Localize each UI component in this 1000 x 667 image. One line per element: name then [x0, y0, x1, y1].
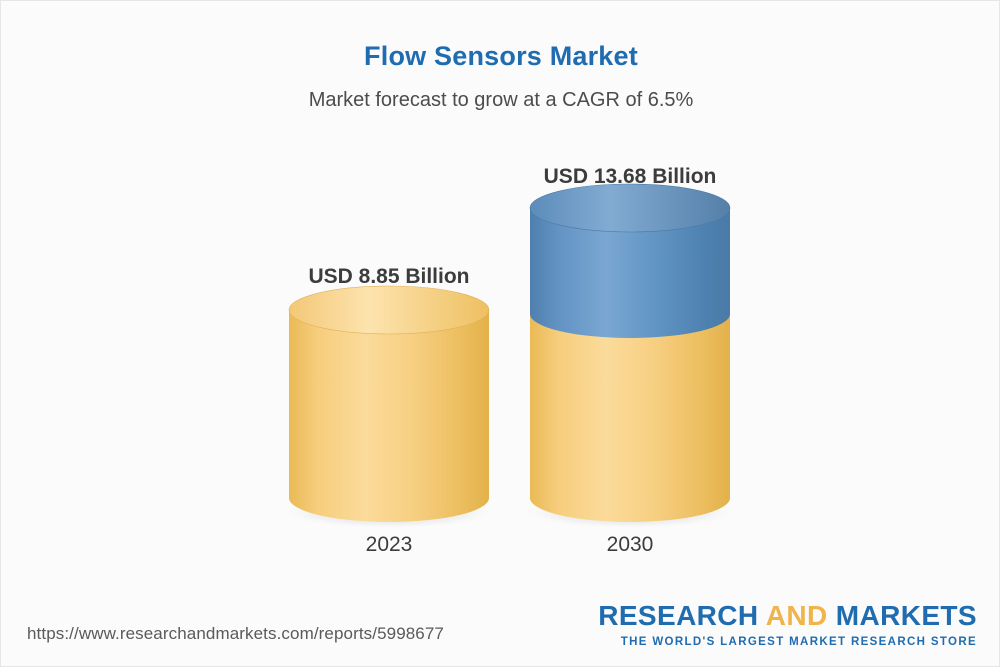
source-url[interactable]: https://www.researchandmarkets.com/repor… — [27, 624, 444, 644]
logo-markets-text: MARKETS — [828, 600, 977, 631]
bar-2030-top — [530, 184, 730, 232]
bar-2030 — [530, 184, 730, 522]
value-label-2030: USD 13.68 Billion — [470, 165, 790, 189]
bar-2023-body — [289, 310, 489, 522]
logo-research-text: RESEARCH — [598, 600, 765, 631]
category-label-2030: 2030 — [470, 533, 790, 557]
logo-and-text: AND — [766, 600, 828, 631]
bar-chart — [1, 1, 1000, 667]
logo-tagline: THE WORLD'S LARGEST MARKET RESEARCH STOR… — [598, 637, 977, 649]
brand-logo: RESEARCH AND MARKETS THE WORLD'S LARGEST… — [598, 602, 977, 649]
bar-2023 — [289, 286, 489, 522]
value-label-2023: USD 8.85 Billion — [229, 265, 549, 289]
bar-2030-body-base — [530, 314, 730, 522]
bar-2023-top — [289, 286, 489, 334]
chart-canvas: Flow Sensors Market Market forecast to g… — [0, 0, 1000, 667]
logo-wordmark: RESEARCH AND MARKETS — [598, 602, 977, 630]
